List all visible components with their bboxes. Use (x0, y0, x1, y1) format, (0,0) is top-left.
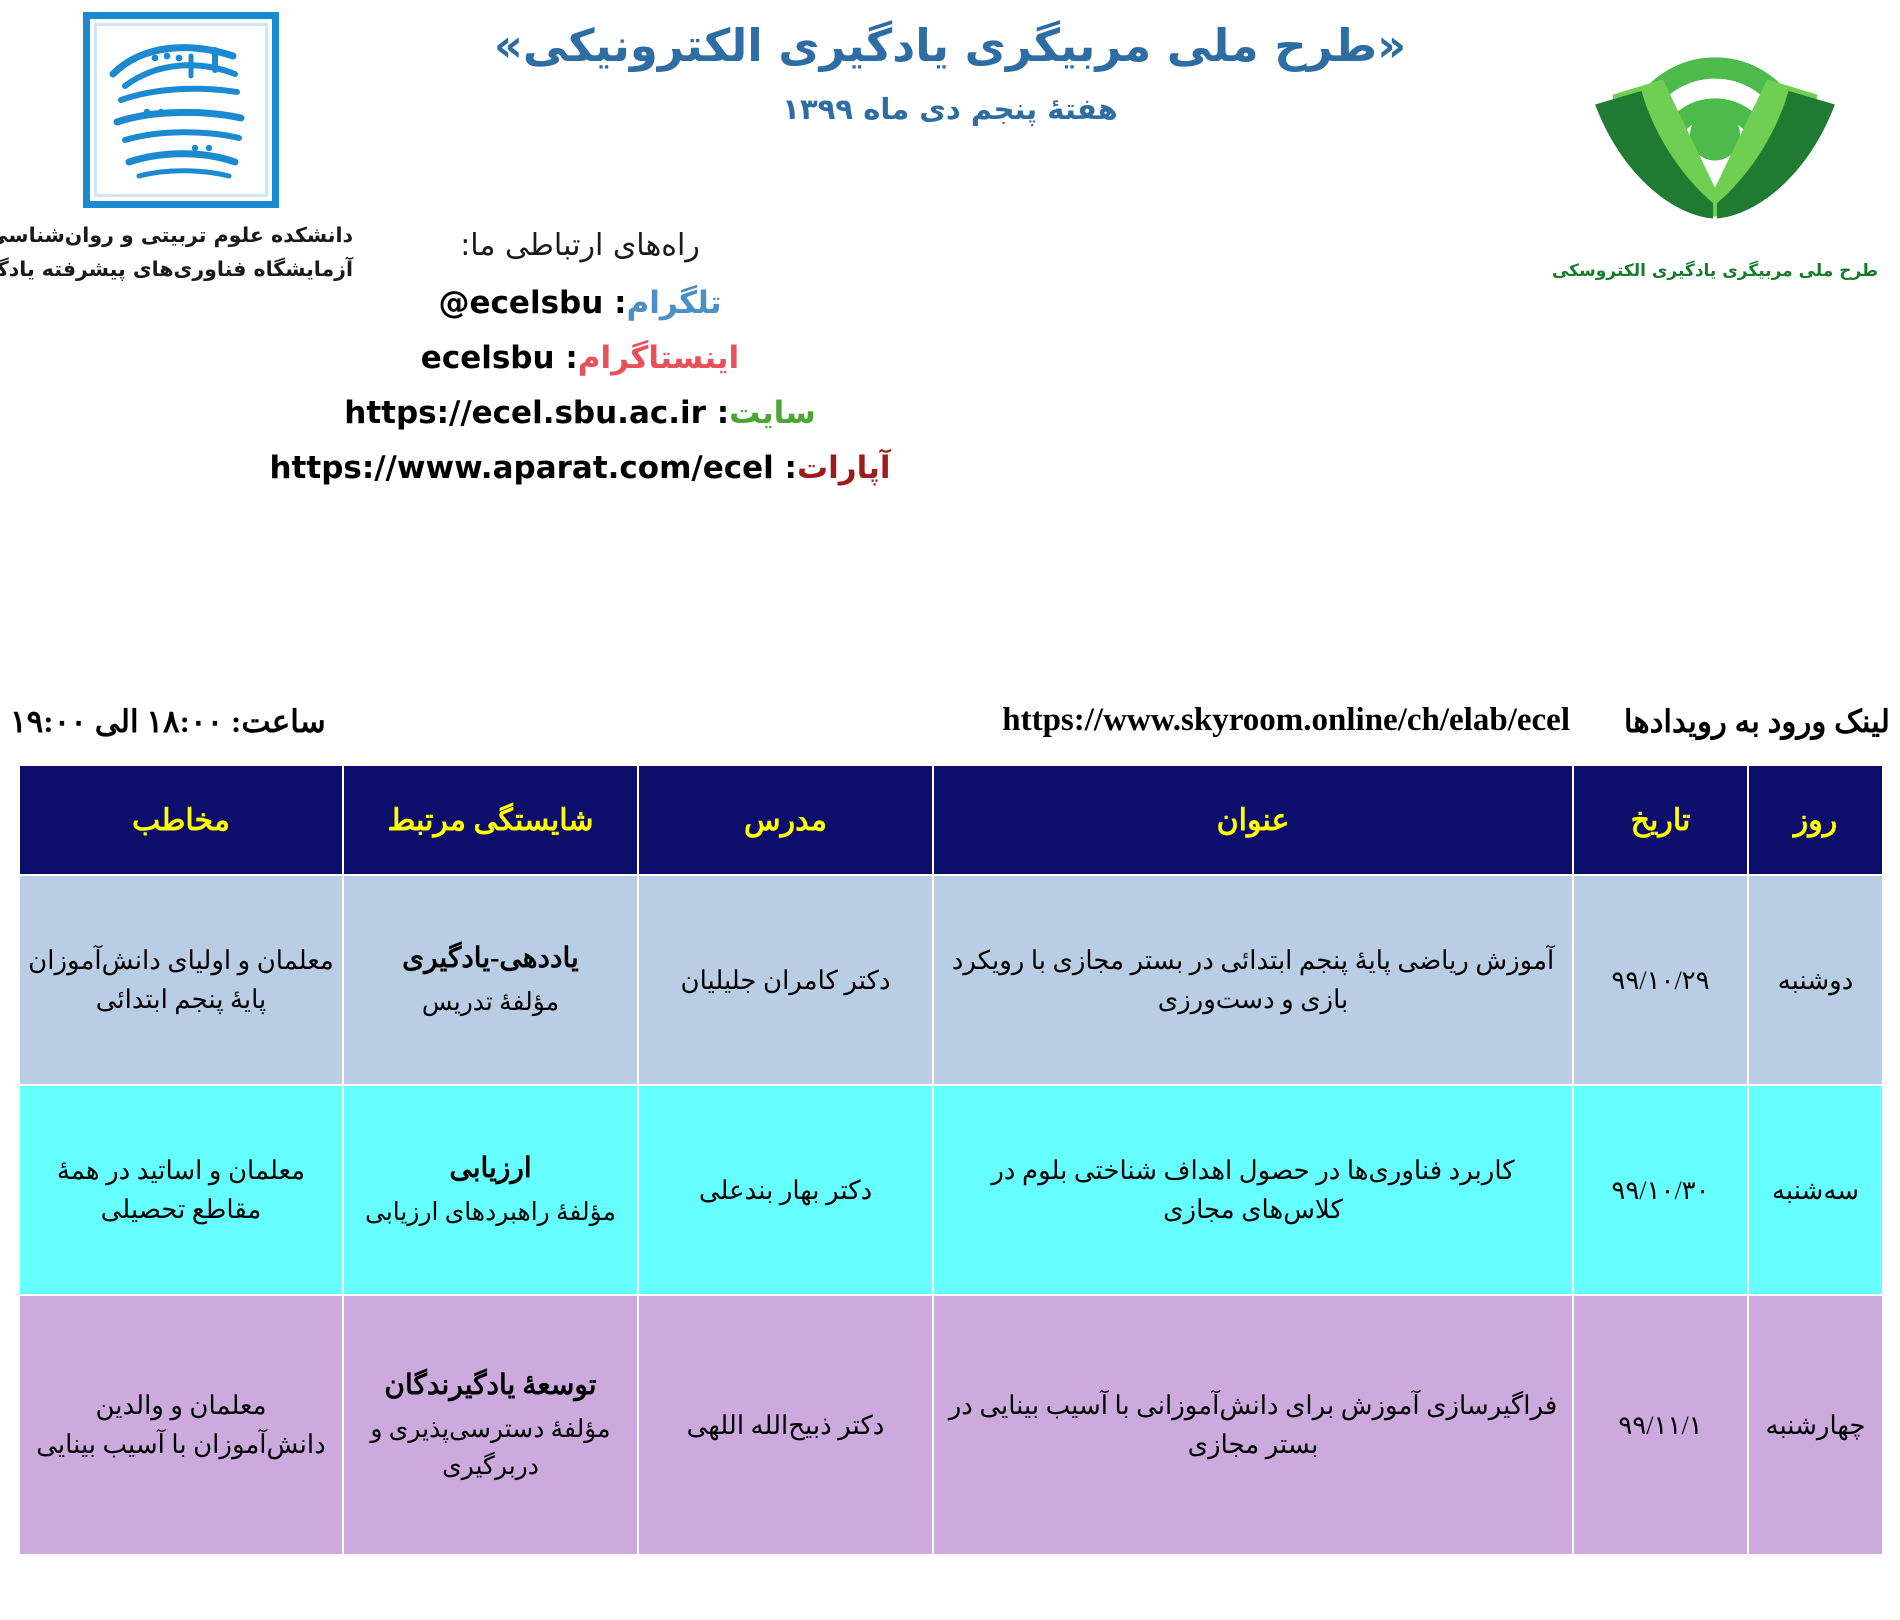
page-title: «طرح ملی مربیگری یادگیری الکترونیکی» (360, 18, 1540, 74)
contact-row-instagram: اینستاگرام: ecelsbu (0, 340, 1160, 376)
cell-day: چهارشنبه (1748, 1295, 1883, 1555)
contact-colon-site: : (706, 395, 729, 431)
column-header-day: روز (1748, 765, 1883, 875)
contact-row-site: سایت: https://ecel.sbu.ac.ir (0, 395, 1160, 431)
event-link-label: لینک ورود به رویدادها (1624, 704, 1890, 740)
contact-value-site[interactable]: https://ecel.sbu.ac.ir (344, 395, 706, 431)
column-header-title: عنوان (933, 765, 1573, 875)
cell-competency: توسعهٔ یادگیرندگان مؤلفهٔ دسترسی‌پذیری و… (343, 1295, 638, 1555)
cell-day: سه‌شنبه (1748, 1085, 1883, 1295)
cell-audience: معلمان و والدین دانش‌آموزان با آسیب بینا… (19, 1295, 343, 1555)
cell-competency: ارزیابی مؤلفهٔ راهبردهای ارزیابی (343, 1085, 638, 1295)
contact-label-telegram: تلگرام (627, 285, 722, 321)
cell-audience: معلمان و اساتید در همهٔ مقاطع تحصیلی (19, 1085, 343, 1295)
contact-colon-aparat: : (774, 450, 797, 486)
table-row: چهارشنبه ۹۹/۱۱/۱ فراگیرسازی آموزش برای د… (19, 1295, 1883, 1555)
contact-value-instagram[interactable]: ecelsbu (421, 340, 555, 376)
cell-date: ۹۹/۱۰/۳۰ (1573, 1085, 1748, 1295)
cell-teacher: دکتر کامران جلیلیان (638, 875, 933, 1085)
contact-label-site: سایت (729, 395, 816, 431)
sbu-logo-inner-frame (94, 23, 268, 197)
cell-date: ۹۹/۱۱/۱ (1573, 1295, 1748, 1555)
column-header-competency: شایستگی مرتبط (343, 765, 638, 875)
contact-label-instagram: اینستاگرام (578, 340, 739, 376)
cell-day: دوشنبه (1748, 875, 1883, 1085)
ecel-logo-block: طرح ملی مربیگری یادگیری الکتروسکی (1550, 10, 1880, 281)
ecel-logo-caption: طرح ملی مربیگری یادگیری الکتروسکی (1550, 261, 1880, 281)
event-link-url[interactable]: https://www.skyroom.online/ch/elab/ecel (1002, 702, 1570, 739)
contact-row-aparat: آپارات: https://www.aparat.com/ecel (0, 450, 1160, 486)
ecel-wifi-hands-logo (1570, 10, 1860, 255)
event-link-row: لینک ورود به رویدادها https://www.skyroo… (0, 700, 1900, 762)
contact-heading: راه‌های ارتباطی ما: (0, 228, 1160, 263)
column-header-teacher: مدرس (638, 765, 933, 875)
schedule-table: روز تاریخ عنوان مدرس شایستگی مرتبط مخاطب… (18, 764, 1884, 1556)
contact-row-telegram: تلگرام: @ecelsbu (0, 285, 1160, 321)
table-row: دوشنبه ۹۹/۱۰/۲۹ آموزش ریاضی پایهٔ پنجم ا… (19, 875, 1883, 1085)
competency-sub: مؤلفهٔ راهبردهای ارزیابی (352, 1194, 629, 1232)
contact-colon-telegram: : (603, 285, 626, 321)
table-header-row: روز تاریخ عنوان مدرس شایستگی مرتبط مخاطب (19, 765, 1883, 875)
contact-value-telegram[interactable]: @ecelsbu (439, 285, 604, 321)
cell-competency: یاددهی-یادگیری مؤلفهٔ تدریس (343, 875, 638, 1085)
competency-sub: مؤلفهٔ دسترسی‌پذیری و دربرگیری (352, 1411, 629, 1486)
competency-sub: مؤلفهٔ تدریس (352, 984, 629, 1022)
cell-teacher: دکتر ذبیح‌الله اللهی (638, 1295, 933, 1555)
competency-main: یاددهی-یادگیری (352, 938, 629, 980)
contact-block: راه‌های ارتباطی ما: تلگرام: @ecelsbu این… (0, 228, 1160, 505)
column-header-date: تاریخ (1573, 765, 1748, 875)
column-header-audience: مخاطب (19, 765, 343, 875)
cell-title: فراگیرسازی آموزش برای دانش‌آموزانی با آس… (933, 1295, 1573, 1555)
event-time-label: ساعت: ۱۸:۰۰ الی ۱۹:۰۰ (10, 704, 326, 740)
page-subtitle: هفتهٔ پنجم دی ماه ۱۳۹۹ (360, 92, 1540, 126)
contact-value-aparat[interactable]: https://www.aparat.com/ecel (269, 450, 773, 486)
cell-date: ۹۹/۱۰/۲۹ (1573, 875, 1748, 1085)
contact-colon-instagram: : (555, 340, 578, 376)
cell-teacher: دکتر بهار بندعلی (638, 1085, 933, 1295)
cell-title: آموزش ریاضی پایهٔ پنجم ابتدائی در بستر م… (933, 875, 1573, 1085)
sbu-calligraphy-logo (83, 12, 279, 208)
competency-main: توسعهٔ یادگیرندگان (352, 1365, 629, 1407)
title-block: «طرح ملی مربیگری یادگیری الکترونیکی» هفت… (360, 18, 1540, 126)
cell-audience: معلمان و اولیای دانش‌آموزان پایهٔ پنجم ا… (19, 875, 343, 1085)
competency-main: ارزیابی (352, 1148, 629, 1190)
cell-title: کاربرد فناوری‌ها در حصول اهداف شناختی بل… (933, 1085, 1573, 1295)
contact-label-aparat: آپارات (797, 450, 891, 486)
table-row: سه‌شنبه ۹۹/۱۰/۳۰ کاربرد فناوری‌ها در حصو… (19, 1085, 1883, 1295)
